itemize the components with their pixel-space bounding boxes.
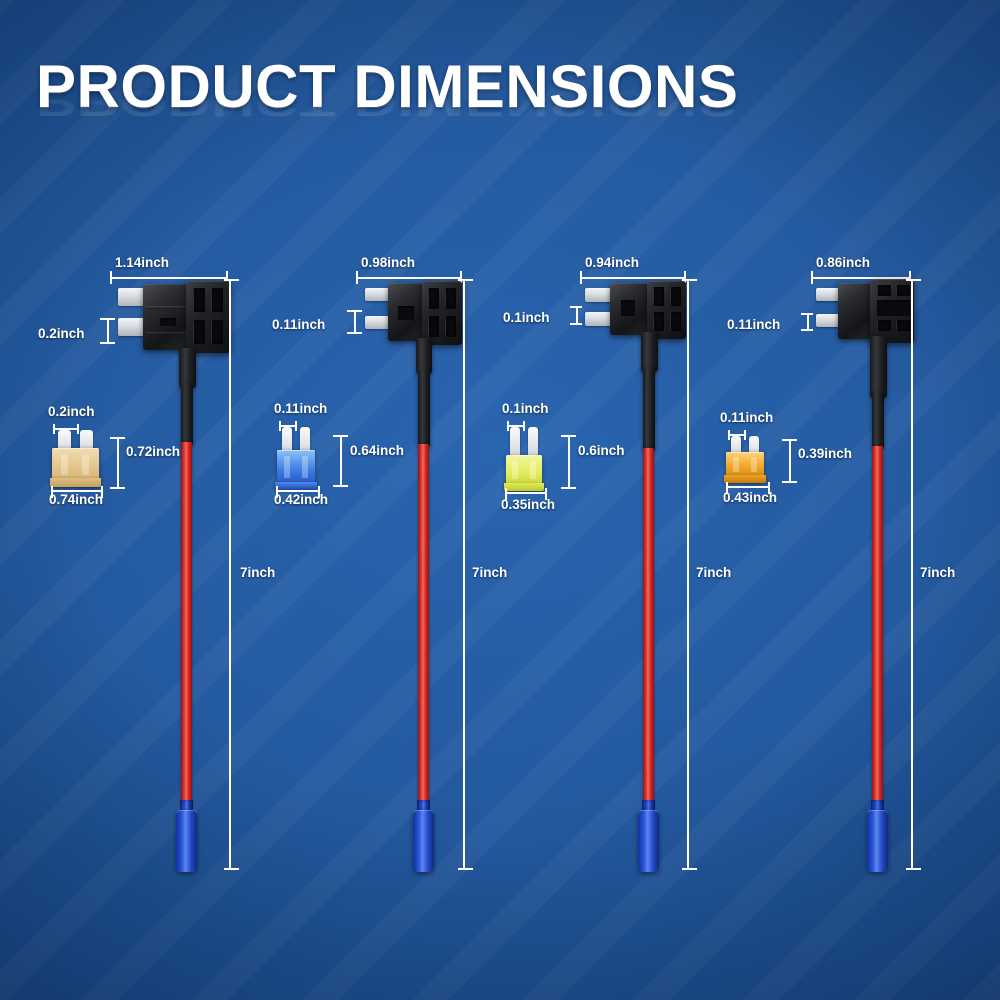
- blade-gap-cap-bottom: [801, 329, 813, 331]
- fuse-width-cap-left: [276, 486, 278, 498]
- blue-crimp-terminal: [176, 810, 197, 872]
- fuse-height-cap-top: [782, 439, 797, 441]
- fuse-blade-gap-cap-right: [295, 421, 297, 431]
- blade-gap-label: 0.2inch: [38, 326, 85, 341]
- socket-cavity-1: [428, 288, 439, 309]
- connector-width-label: 0.94inch: [585, 255, 639, 270]
- fuse-height-cap-bottom: [110, 487, 125, 489]
- fuse-height-dimension-line: [340, 436, 342, 486]
- wire-black-section: [418, 370, 430, 448]
- fuse-height-cap-top: [110, 437, 125, 439]
- fuse-blade-gap-cap-right: [77, 424, 79, 434]
- wire-red-section: [418, 444, 429, 806]
- blade-gap-dimension-line: [354, 310, 356, 334]
- fuse-window-right: [751, 457, 757, 472]
- blue-crimp-terminal: [413, 810, 434, 872]
- blue-crimp-terminal: [867, 810, 888, 872]
- socket-cavity-2: [211, 288, 223, 312]
- wire-strain-relief-sleeve: [870, 336, 887, 398]
- fuse-window-right: [302, 456, 308, 478]
- fuse-width-cap-left: [726, 482, 728, 494]
- wire-length-dimension-line: [911, 280, 913, 870]
- socket-cavity-3: [193, 320, 205, 344]
- fuse-height-cap-top: [561, 435, 576, 437]
- fuse-height-dimension-line: [117, 438, 119, 488]
- wire-strain-relief-sleeve: [179, 348, 196, 388]
- fuse-window-right: [530, 461, 536, 479]
- fuse-window-left: [61, 455, 68, 475]
- fuse-blade-gap-cap-right: [523, 421, 525, 431]
- connector-width-cap-left: [811, 271, 813, 284]
- socket-cavity-1: [653, 287, 664, 306]
- fuse-height-cap-bottom: [333, 485, 348, 487]
- blade-gap-cap-bottom: [100, 342, 115, 344]
- blade-gap-cap-top: [570, 306, 582, 308]
- socket-cavity-4: [896, 320, 910, 331]
- fuse-height-cap-top: [333, 435, 348, 437]
- socket-cavity-1: [193, 288, 205, 312]
- product-group-low-profile-mini: 0.86inch 0.11inch 0.11inch 0.39inch 0.43…: [680, 0, 930, 1000]
- socket-cavity-2: [896, 285, 910, 296]
- fuse-blade-gap-cap-left: [728, 430, 730, 440]
- fuse-height-dimension-line: [789, 440, 791, 482]
- wire-length-dimension-line: [229, 280, 231, 870]
- connector-width-dimension-line: [110, 277, 228, 279]
- wire-black-section: [643, 368, 655, 452]
- fuse-height-label: 0.6inch: [578, 443, 625, 458]
- fuse-blade-gap-cap-left: [507, 421, 509, 431]
- connector-body-notch: [621, 300, 635, 316]
- fuse-base-flange: [724, 475, 766, 483]
- fuse-width-dimension-line: [51, 490, 103, 492]
- fuse-blade-gap-cap-right: [744, 430, 746, 440]
- wire-black-section: [872, 392, 884, 450]
- connector-width-dimension-line: [580, 277, 686, 279]
- socket-cavity-3: [653, 312, 664, 331]
- blade-gap-cap-top: [347, 310, 362, 312]
- wire-strain-relief-sleeve: [416, 338, 432, 374]
- fuse-base-flange: [275, 482, 317, 490]
- wire-length-cap-top: [906, 279, 921, 281]
- blue-crimp-terminal: [638, 810, 659, 872]
- fuse-window-left: [512, 461, 518, 479]
- fuse-width-cap-right: [768, 482, 770, 494]
- wire-strain-relief-sleeve: [641, 332, 658, 372]
- blade-gap-cap-bottom: [347, 332, 362, 334]
- socket-cavity-1: [877, 285, 891, 296]
- fuse-window-right: [82, 455, 89, 475]
- fuse-height-cap-bottom: [782, 481, 797, 483]
- fuse-height-label: 0.39inch: [798, 446, 852, 461]
- connector-body-notch: [160, 318, 176, 326]
- fuse-blade-gap-label: 0.1inch: [502, 401, 549, 416]
- wire-red-section: [643, 448, 654, 806]
- product-group-mini-atm: 0.98inch 0.11inch 0.11inch 0.64inch 0.42…: [232, 0, 482, 1000]
- connector-width-cap-left: [356, 271, 358, 284]
- blade-gap-dimension-line: [107, 318, 109, 344]
- connector-body-notch: [877, 300, 910, 316]
- connector-body: [838, 283, 874, 339]
- blade-gap-cap-top: [801, 313, 813, 315]
- fuse-blade-gap-label: 0.11inch: [720, 410, 773, 425]
- fuse-blade-gap-label: 0.11inch: [274, 401, 327, 416]
- connector-body-ridge-lower: [146, 332, 188, 335]
- wire-red-section: [181, 442, 192, 806]
- connector-width-label: 1.14inch: [115, 255, 169, 270]
- blade-gap-cap-top: [100, 318, 115, 320]
- blade-gap-label: 0.11inch: [727, 317, 780, 332]
- product-group-micro2: 0.94inch 0.1inch 0.1inch 0.6inch 0.35inc…: [455, 0, 705, 1000]
- fuse-window-left: [284, 456, 290, 478]
- fuse-height-label: 0.64inch: [350, 443, 404, 458]
- fuse-width-cap-right: [318, 486, 320, 498]
- socket-cavity-4: [211, 320, 223, 344]
- connector-body-notch: [398, 306, 414, 320]
- blade-gap-label: 0.1inch: [503, 310, 550, 325]
- wire-black-section: [181, 384, 193, 446]
- wire-length-label: 7inch: [920, 565, 955, 580]
- fuse-window-left: [733, 457, 739, 472]
- fuse-width-label: 0.74inch: [49, 492, 103, 507]
- fuse-height-label: 0.72inch: [126, 444, 180, 459]
- wire-red-section: [872, 446, 883, 806]
- connector-width-cap-left: [580, 271, 582, 284]
- fuse-blade-gap-label: 0.2inch: [48, 404, 95, 419]
- fuse-height-cap-bottom: [561, 487, 576, 489]
- connector-width-cap-left: [110, 271, 112, 284]
- wire-length-cap-bottom: [906, 868, 921, 870]
- connector-width-dimension-line: [356, 277, 462, 279]
- socket-cavity-3: [428, 316, 439, 337]
- blade-gap-label: 0.11inch: [272, 317, 325, 332]
- fuse-width-cap-right: [545, 488, 547, 500]
- fuse-width-dimension-line: [505, 492, 547, 494]
- fuse-height-dimension-line: [568, 436, 570, 488]
- fuse-width-dimension-line: [726, 486, 770, 488]
- fuse-width-cap-right: [101, 486, 103, 498]
- socket-cavity-3: [877, 320, 891, 331]
- fuse-base-flange: [504, 483, 544, 491]
- connector-body: [143, 284, 190, 350]
- product-group-standard-ato: 1.14inch 0.2inch 0.2inch 0.72inch 0.74in…: [0, 0, 250, 1000]
- fuse-blade-gap-cap-left: [53, 424, 55, 434]
- connector-body-ridge-upper: [146, 306, 188, 309]
- fuse-width-cap-left: [51, 486, 53, 498]
- connector-width-label: 0.86inch: [816, 255, 870, 270]
- fuse-base-flange: [50, 478, 101, 487]
- fuse-width-dimension-line: [276, 490, 320, 492]
- fuse-width-cap-left: [505, 488, 507, 500]
- connector-width-label: 0.98inch: [361, 255, 415, 270]
- fuse-blade-gap-cap-left: [279, 421, 281, 431]
- blade-gap-cap-bottom: [570, 323, 582, 325]
